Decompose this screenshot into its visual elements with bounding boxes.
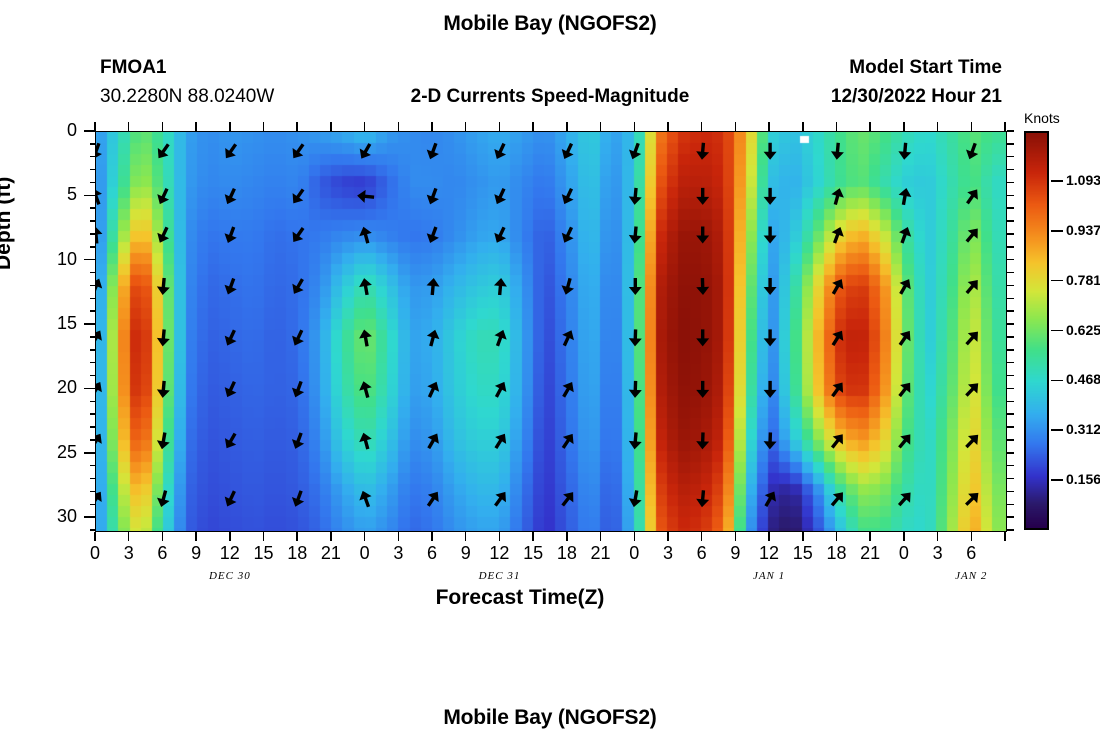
x-axis-tick (364, 532, 366, 541)
current-vector-arrow (156, 277, 170, 295)
current-vector-arrow (96, 488, 106, 509)
current-vector-arrow (558, 186, 577, 207)
x-axis: 036912151821036912151821036912151821036D… (95, 532, 1005, 592)
current-vector-arrow (424, 141, 442, 161)
y-axis-right-ticks (1007, 131, 1015, 530)
current-vector-arrow (895, 276, 915, 297)
current-vector-arrow (764, 227, 777, 244)
current-vector-arrow (426, 277, 440, 295)
current-vector-arrow (356, 141, 376, 162)
current-vector-arrow (357, 380, 374, 400)
y-axis-minor-tick (90, 285, 95, 287)
y-axis-minor-tick (90, 529, 95, 531)
x-axis-tick (869, 122, 871, 131)
x-axis-tick (1004, 532, 1006, 541)
current-vector-arrow (695, 142, 709, 160)
x-axis-tick (903, 122, 905, 131)
y-axis-minor-tick (90, 246, 95, 248)
current-vector-arrow (764, 188, 777, 205)
x-axis-tick (431, 122, 433, 131)
current-vector-arrow (289, 379, 307, 399)
current-vector-arrow (288, 276, 308, 297)
current-vector-arrow (558, 430, 578, 451)
y-axis-minor-tick (90, 375, 95, 377)
colorbar-tick-label: 1.09375 (1066, 172, 1100, 188)
x-axis-tick (499, 122, 501, 131)
y-axis-tick (84, 323, 95, 325)
current-vector-arrow (559, 277, 576, 297)
current-vector-arrow (962, 430, 983, 451)
x-axis-tick-label: 6 (951, 543, 991, 564)
x-axis-tick (195, 122, 197, 131)
current-vector-arrow (357, 225, 374, 245)
y-axis-minor-tick (1007, 491, 1014, 493)
current-vector-arrow (828, 225, 846, 245)
y-axis-minor-tick (1007, 310, 1014, 312)
current-vector-arrow (962, 186, 982, 207)
y-axis-minor-tick (1007, 439, 1014, 441)
y-axis-minor-tick (1007, 362, 1014, 364)
x-axis-day-label: DEC 31 (459, 570, 539, 582)
current-vector-arrow (156, 329, 170, 347)
current-vector-arrow (558, 141, 577, 162)
x-axis-tick (162, 122, 164, 131)
x-axis-tick (667, 532, 669, 541)
y-axis-minor-tick (90, 401, 95, 403)
x-axis-tick (768, 532, 770, 541)
current-vector-arrow (627, 489, 643, 508)
x-axis-tick (465, 122, 467, 131)
colorbar-tick (1051, 280, 1063, 282)
y-axis-minor-tick (1007, 143, 1014, 145)
current-vector-arrow (96, 141, 105, 161)
current-vector-arrow (493, 277, 507, 295)
y-axis-minor-tick (1007, 375, 1014, 377)
current-vector-arrow (221, 430, 241, 451)
y-axis-minor-tick (90, 362, 95, 364)
x-axis-tick (971, 122, 973, 131)
x-axis-tick (768, 122, 770, 131)
y-axis-minor-tick (90, 156, 95, 158)
y-axis-minor-tick (1007, 182, 1014, 184)
current-vector-arrow (696, 381, 709, 398)
current-vector-arrow (629, 278, 642, 295)
x-axis-tick (465, 532, 467, 541)
y-axis-minor-tick (1007, 259, 1014, 261)
x-axis-tick (971, 532, 973, 541)
y-axis-minor-tick (90, 504, 95, 506)
current-vector-arrow (962, 276, 983, 297)
current-vector-arrow (629, 329, 643, 346)
x-axis-tick (802, 122, 804, 131)
y-axis-minor-tick (1007, 233, 1014, 235)
x-axis-tick (634, 122, 636, 131)
y-axis-label: Depth (ft) (0, 177, 16, 270)
x-axis-tick (296, 532, 298, 541)
current-vector-arrow (894, 488, 915, 509)
x-axis-tick (566, 122, 568, 131)
current-vector-arrow (96, 276, 105, 297)
y-axis-minor-tick (90, 349, 95, 351)
x-axis-tick (229, 122, 231, 131)
y-axis-minor-tick (1007, 336, 1014, 338)
x-axis-tick (330, 532, 332, 541)
x-axis-top-ticks (95, 120, 1005, 131)
x-axis-tick (836, 532, 838, 541)
x-axis-tick (195, 532, 197, 541)
x-axis-tick (532, 122, 534, 131)
y-axis-minor-tick (1007, 478, 1014, 480)
current-vector-arrow (827, 430, 848, 451)
current-vector-arrow (558, 225, 577, 246)
x-axis-tick (532, 532, 534, 541)
x-axis-tick (600, 122, 602, 131)
x-axis-tick (667, 122, 669, 131)
y-axis-minor-tick (1007, 323, 1014, 325)
x-axis-tick (735, 122, 737, 131)
current-vector-arrow (423, 488, 443, 509)
current-vector-arrow (490, 430, 510, 451)
y-axis-tick-label: 30 (37, 506, 77, 527)
x-axis-tick (94, 122, 96, 131)
current-vector-arrow (628, 226, 642, 244)
current-vector-arrow (828, 276, 848, 297)
current-vector-arrow (153, 141, 173, 162)
y-axis-tick-label: 20 (37, 377, 77, 398)
current-vector-arrow (764, 143, 777, 160)
current-vector-arrow (289, 431, 307, 451)
y-axis-minor-tick (90, 233, 95, 235)
y-axis-minor-tick (1007, 504, 1014, 506)
current-vector-arrow (962, 224, 983, 245)
y-axis-minor-tick (1007, 272, 1014, 274)
y-axis-minor-tick (90, 272, 95, 274)
current-vector-arrow (154, 225, 173, 246)
x-axis-tick (735, 532, 737, 541)
current-vector-arrow (764, 329, 777, 346)
current-vector-arrow (829, 187, 846, 207)
y-axis-minor-tick (90, 465, 95, 467)
x-axis-tick (263, 532, 265, 541)
x-axis-tick (398, 122, 400, 131)
current-vector-arrow (895, 379, 916, 400)
y-axis-minor-tick (1007, 413, 1014, 415)
y-axis-minor-tick (1007, 156, 1014, 158)
colorbar-gradient (1026, 133, 1047, 528)
current-vector-arrow (628, 187, 642, 205)
current-vector-arrow (288, 186, 308, 207)
current-direction-vectors (96, 132, 1006, 531)
current-vector-arrow (222, 276, 240, 296)
x-axis-tick (128, 532, 130, 541)
current-vector-arrow (424, 379, 443, 400)
x-axis-tick (869, 532, 871, 541)
y-axis-minor-tick (90, 413, 95, 415)
current-vector-arrow (154, 186, 173, 207)
current-vector-arrow (827, 327, 847, 348)
colorbar-tick-label: 0.46875 (1066, 371, 1100, 387)
current-vector-arrow (221, 379, 240, 400)
current-vector-arrow (764, 381, 777, 398)
current-vector-arrow (221, 186, 240, 207)
x-axis-tick (330, 122, 332, 131)
x-axis-day-label: JAN 1 (729, 570, 809, 582)
y-axis-tick-label: 10 (37, 249, 77, 270)
current-vector-arrow (628, 432, 642, 450)
x-axis-tick (398, 532, 400, 541)
footer-title: Mobile Bay (NGOFS2) (0, 706, 1100, 730)
y-axis-minor-tick (90, 491, 95, 493)
colorbar-tick-label: 0.78125 (1066, 272, 1100, 288)
current-vector-arrow (358, 328, 374, 347)
x-axis-tick (701, 532, 703, 541)
x-axis-day-label: DEC 30 (190, 570, 270, 582)
y-axis-minor-tick (90, 207, 95, 209)
x-axis-label: Forecast Time(Z) (0, 586, 1040, 610)
current-vector-arrow (221, 488, 240, 509)
y-axis-minor-tick (1007, 465, 1014, 467)
current-vector-arrow (425, 328, 442, 348)
current-vector-arrow (491, 328, 509, 348)
x-axis-tick (701, 122, 703, 131)
current-vector-arrow (696, 227, 709, 244)
y-axis-minor-tick (1007, 401, 1014, 403)
colorbar-tick (1051, 380, 1063, 382)
current-vector-arrow (289, 489, 307, 509)
y-axis-minor-tick (90, 439, 95, 441)
current-vector-arrow (221, 141, 241, 162)
current-vector-arrow (830, 142, 844, 160)
model-start-time-label: Model Start Time (849, 57, 1002, 79)
x-axis-tick (162, 532, 164, 541)
current-vector-arrow (156, 380, 170, 398)
colorbar-tick-label: 0.62500 (1066, 322, 1100, 338)
current-vector-arrow (491, 225, 510, 246)
y-axis-minor-tick (1007, 130, 1014, 132)
y-axis-minor-tick (1007, 388, 1014, 390)
y-axis-minor-tick (90, 298, 95, 300)
y-axis-tick (84, 259, 95, 261)
current-vector-arrow (827, 379, 848, 400)
y-axis-tick-label: 0 (37, 120, 77, 141)
y-axis-minor-tick (90, 143, 95, 145)
page-title: Mobile Bay (NGOFS2) (0, 12, 1100, 36)
x-axis-tick (937, 532, 939, 541)
current-vector-arrow (894, 430, 915, 451)
x-axis-tick (903, 532, 905, 541)
y-axis-minor-tick (1007, 195, 1014, 197)
current-vector-arrow (763, 432, 777, 449)
current-vector-arrow (696, 329, 709, 346)
y-axis-tick (84, 452, 95, 454)
current-vector-arrow (424, 225, 442, 245)
current-vector-arrow (221, 327, 240, 348)
colorbar-title: Knots (1024, 110, 1060, 126)
current-vector-arrow (827, 488, 848, 509)
heatmap-plot-area[interactable] (95, 131, 1007, 532)
current-vector-arrow (898, 142, 912, 160)
current-vector-arrow (558, 488, 579, 509)
x-axis-tick (566, 532, 568, 541)
current-vector-arrow (96, 226, 103, 244)
y-axis-minor-tick (1007, 516, 1014, 518)
y-axis-minor-tick (1007, 169, 1014, 171)
colorbar-tick (1051, 479, 1063, 481)
current-vector-arrow (490, 488, 511, 509)
y-axis-minor-tick (1007, 220, 1014, 222)
current-vector-arrow (96, 379, 106, 400)
current-vector-arrow (696, 188, 709, 205)
current-vector-arrow (626, 141, 644, 161)
current-vector-arrow (896, 225, 914, 245)
x-axis-tick (836, 122, 838, 131)
current-vector-arrow (358, 277, 374, 296)
current-vector-arrow (963, 141, 981, 161)
y-axis-minor-tick (1007, 529, 1014, 531)
y-axis-minor-tick (1007, 426, 1014, 428)
current-vector-arrow (96, 327, 106, 348)
colorbar-tick (1051, 230, 1063, 232)
y-axis-minor-tick (90, 336, 95, 338)
x-axis-tick (600, 532, 602, 541)
station-id: FMOA1 (100, 57, 167, 79)
colorbar-tick (1051, 180, 1063, 182)
current-vector-arrow (357, 189, 375, 203)
x-axis-tick (937, 122, 939, 131)
y-axis-minor-tick (1007, 285, 1014, 287)
y-axis-minor-tick (1007, 452, 1014, 454)
y-axis-minor-tick (1007, 207, 1014, 209)
y-axis-minor-tick (90, 478, 95, 480)
y-axis-tick (84, 388, 95, 390)
y-axis-minor-tick (1007, 246, 1014, 248)
current-vector-arrow (288, 224, 308, 245)
current-vector-arrow (629, 381, 643, 398)
current-vector-arrow (695, 490, 709, 508)
colorbar[interactable] (1024, 131, 1049, 530)
x-axis-tick (364, 122, 366, 131)
x-axis-tick (634, 532, 636, 541)
y-axis-tick (84, 195, 95, 197)
y-axis-tick-label: 5 (37, 184, 77, 205)
current-vector-arrow (895, 327, 915, 348)
current-vector-arrow (491, 141, 510, 162)
current-vector-arrow (96, 430, 106, 451)
x-axis-tick (431, 532, 433, 541)
current-vector-arrow (289, 327, 308, 348)
colorbar-tick (1051, 429, 1063, 431)
y-axis-tick (84, 516, 95, 518)
y-axis-minor-tick (1007, 298, 1014, 300)
x-axis-tick (1004, 122, 1006, 131)
current-vector-arrow (491, 379, 510, 400)
x-axis-day-label: JAN 2 (931, 570, 1011, 582)
current-vector-arrow (764, 278, 777, 295)
colorbar-tick (1051, 330, 1063, 332)
current-vector-arrow (357, 489, 375, 509)
colorbar-tick-label: 0.15625 (1066, 471, 1100, 487)
x-axis-tick (94, 532, 96, 541)
current-vector-arrow (288, 141, 308, 162)
y-axis-minor-tick (90, 220, 95, 222)
current-vector-arrow (491, 186, 510, 207)
current-vector-arrow (357, 431, 374, 451)
model-start-time-value: 12/30/2022 Hour 21 (831, 86, 1002, 108)
y-axis-minor-tick (90, 169, 95, 171)
x-axis-tick (802, 532, 804, 541)
current-vector-arrow (96, 186, 105, 206)
current-vector-arrow (962, 488, 983, 509)
current-vector-arrow (760, 488, 780, 509)
x-axis-tick (229, 532, 231, 541)
colorbar-tick-label: 0.93750 (1066, 222, 1100, 238)
current-vector-arrow (558, 327, 577, 348)
current-vector-arrow (558, 379, 578, 400)
current-vector-arrow (696, 432, 710, 449)
y-axis-minor-tick (90, 426, 95, 428)
current-vector-arrow (424, 186, 442, 206)
current-vector-arrow (696, 278, 710, 295)
y-axis-minor-tick (90, 182, 95, 184)
y-axis-tick-label: 15 (37, 313, 77, 334)
y-axis-tick-label: 25 (37, 442, 77, 463)
x-axis-tick (263, 122, 265, 131)
current-vector-arrow (962, 379, 983, 400)
x-axis-tick (296, 122, 298, 131)
current-vector-arrow (155, 489, 172, 509)
x-axis-tick (128, 122, 130, 131)
current-vector-arrow (222, 225, 240, 245)
current-vector-arrow (423, 430, 443, 451)
y-axis-minor-tick (1007, 349, 1014, 351)
current-vector-arrow (897, 187, 913, 206)
y-axis (83, 131, 95, 530)
y-axis-minor-tick (90, 310, 95, 312)
current-vector-arrow (962, 327, 983, 348)
current-vector-arrow (156, 431, 172, 450)
colorbar-tick-label: 0.31250 (1066, 421, 1100, 437)
x-axis-tick (499, 532, 501, 541)
